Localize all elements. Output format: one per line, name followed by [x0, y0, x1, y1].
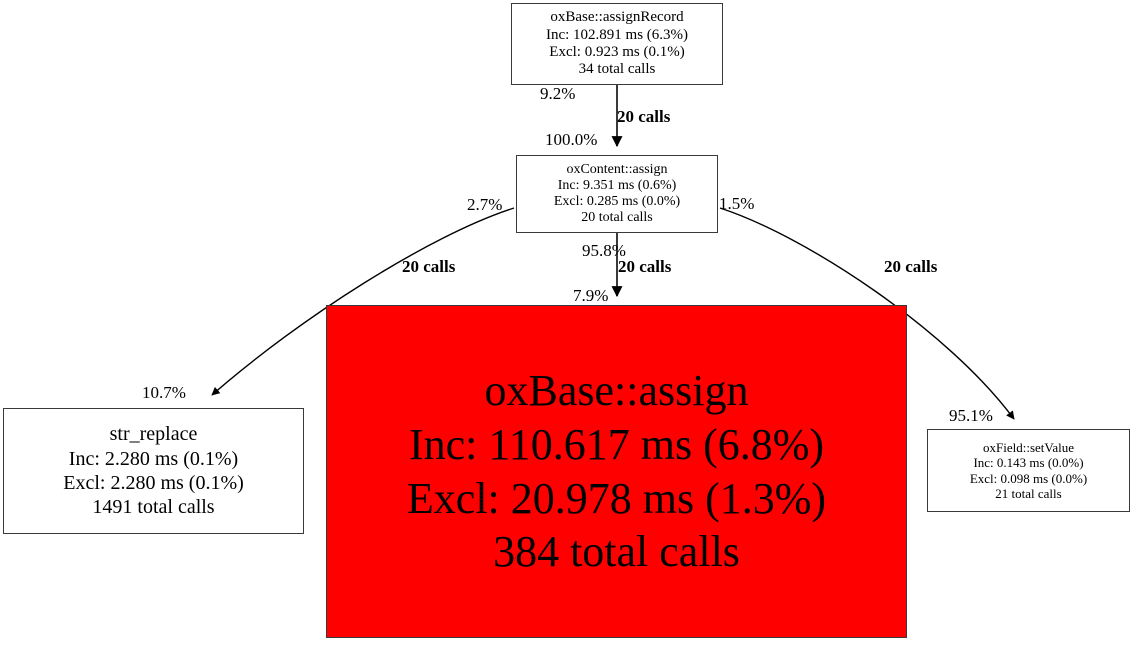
edge-label-calls-oxcontent-oxfieldsetvalue: 20 calls	[884, 258, 937, 275]
node-total-calls: 384 total calls	[493, 525, 740, 579]
node-function-name: str_replace	[110, 422, 198, 446]
node-oxbase-assign-highlighted[interactable]: oxBase::assign Inc: 110.617 ms (6.8%) Ex…	[326, 305, 907, 638]
node-total-calls: 21 total calls	[995, 486, 1061, 501]
node-oxcontent-assign[interactable]: oxContent::assign Inc: 9.351 ms (0.6%) E…	[516, 155, 718, 233]
edge-label-tail-pct-assignrecord-oxcontent: 9.2%	[540, 85, 575, 102]
edge-label-calls-assignrecord-oxcontent: 20 calls	[617, 108, 670, 125]
edge-label-tail-pct-oxcontent-strreplace: 2.7%	[467, 196, 502, 213]
node-exclusive-time: Excl: 2.280 ms (0.1%)	[63, 471, 244, 495]
edge-label-head-pct-oxcontent-strreplace: 10.7%	[142, 384, 186, 401]
node-oxbase-assignrecord[interactable]: oxBase::assignRecord Inc: 102.891 ms (6.…	[511, 3, 723, 85]
node-total-calls: 1491 total calls	[92, 495, 214, 519]
node-oxfield-setvalue[interactable]: oxField::setValue Inc: 0.143 ms (0.0%) E…	[927, 429, 1130, 512]
edge-label-calls-oxcontent-oxbaseassign: 20 calls	[618, 258, 671, 275]
node-function-name: oxContent::assign	[566, 162, 667, 178]
node-inclusive-time: Inc: 2.280 ms (0.1%)	[69, 447, 238, 471]
node-exclusive-time: Excl: 0.098 ms (0.0%)	[970, 471, 1087, 486]
call-graph-canvas: 9.2% 20 calls 100.0% 2.7% 20 calls 10.7%…	[0, 0, 1133, 645]
edge-label-head-pct-oxcontent-oxfieldsetvalue: 95.1%	[949, 407, 993, 424]
edge-label-calls-oxcontent-strreplace: 20 calls	[402, 258, 455, 275]
node-exclusive-time: Excl: 20.978 ms (1.3%)	[407, 472, 826, 526]
node-total-calls: 34 total calls	[579, 61, 656, 78]
node-str-replace[interactable]: str_replace Inc: 2.280 ms (0.1%) Excl: 2…	[3, 408, 304, 534]
edge-label-head-pct-oxcontent-oxbaseassign: 7.9%	[573, 287, 608, 304]
node-inclusive-time: Inc: 102.891 ms (6.3%)	[546, 27, 688, 44]
node-inclusive-time: Inc: 9.351 ms (0.6%)	[558, 178, 677, 194]
node-inclusive-time: Inc: 0.143 ms (0.0%)	[973, 455, 1083, 470]
node-exclusive-time: Excl: 0.923 ms (0.1%)	[549, 44, 684, 61]
node-function-name: oxBase::assignRecord	[550, 9, 683, 26]
node-exclusive-time: Excl: 0.285 ms (0.0%)	[554, 194, 680, 210]
node-function-name: oxBase::assign	[485, 364, 749, 418]
edge-label-head-pct-assignrecord-oxcontent: 100.0%	[545, 131, 597, 148]
node-total-calls: 20 total calls	[581, 210, 653, 226]
node-inclusive-time: Inc: 110.617 ms (6.8%)	[409, 418, 824, 472]
edge-label-tail-pct-oxcontent-oxfieldsetvalue: 1.5%	[719, 195, 754, 212]
node-function-name: oxField::setValue	[983, 440, 1074, 455]
